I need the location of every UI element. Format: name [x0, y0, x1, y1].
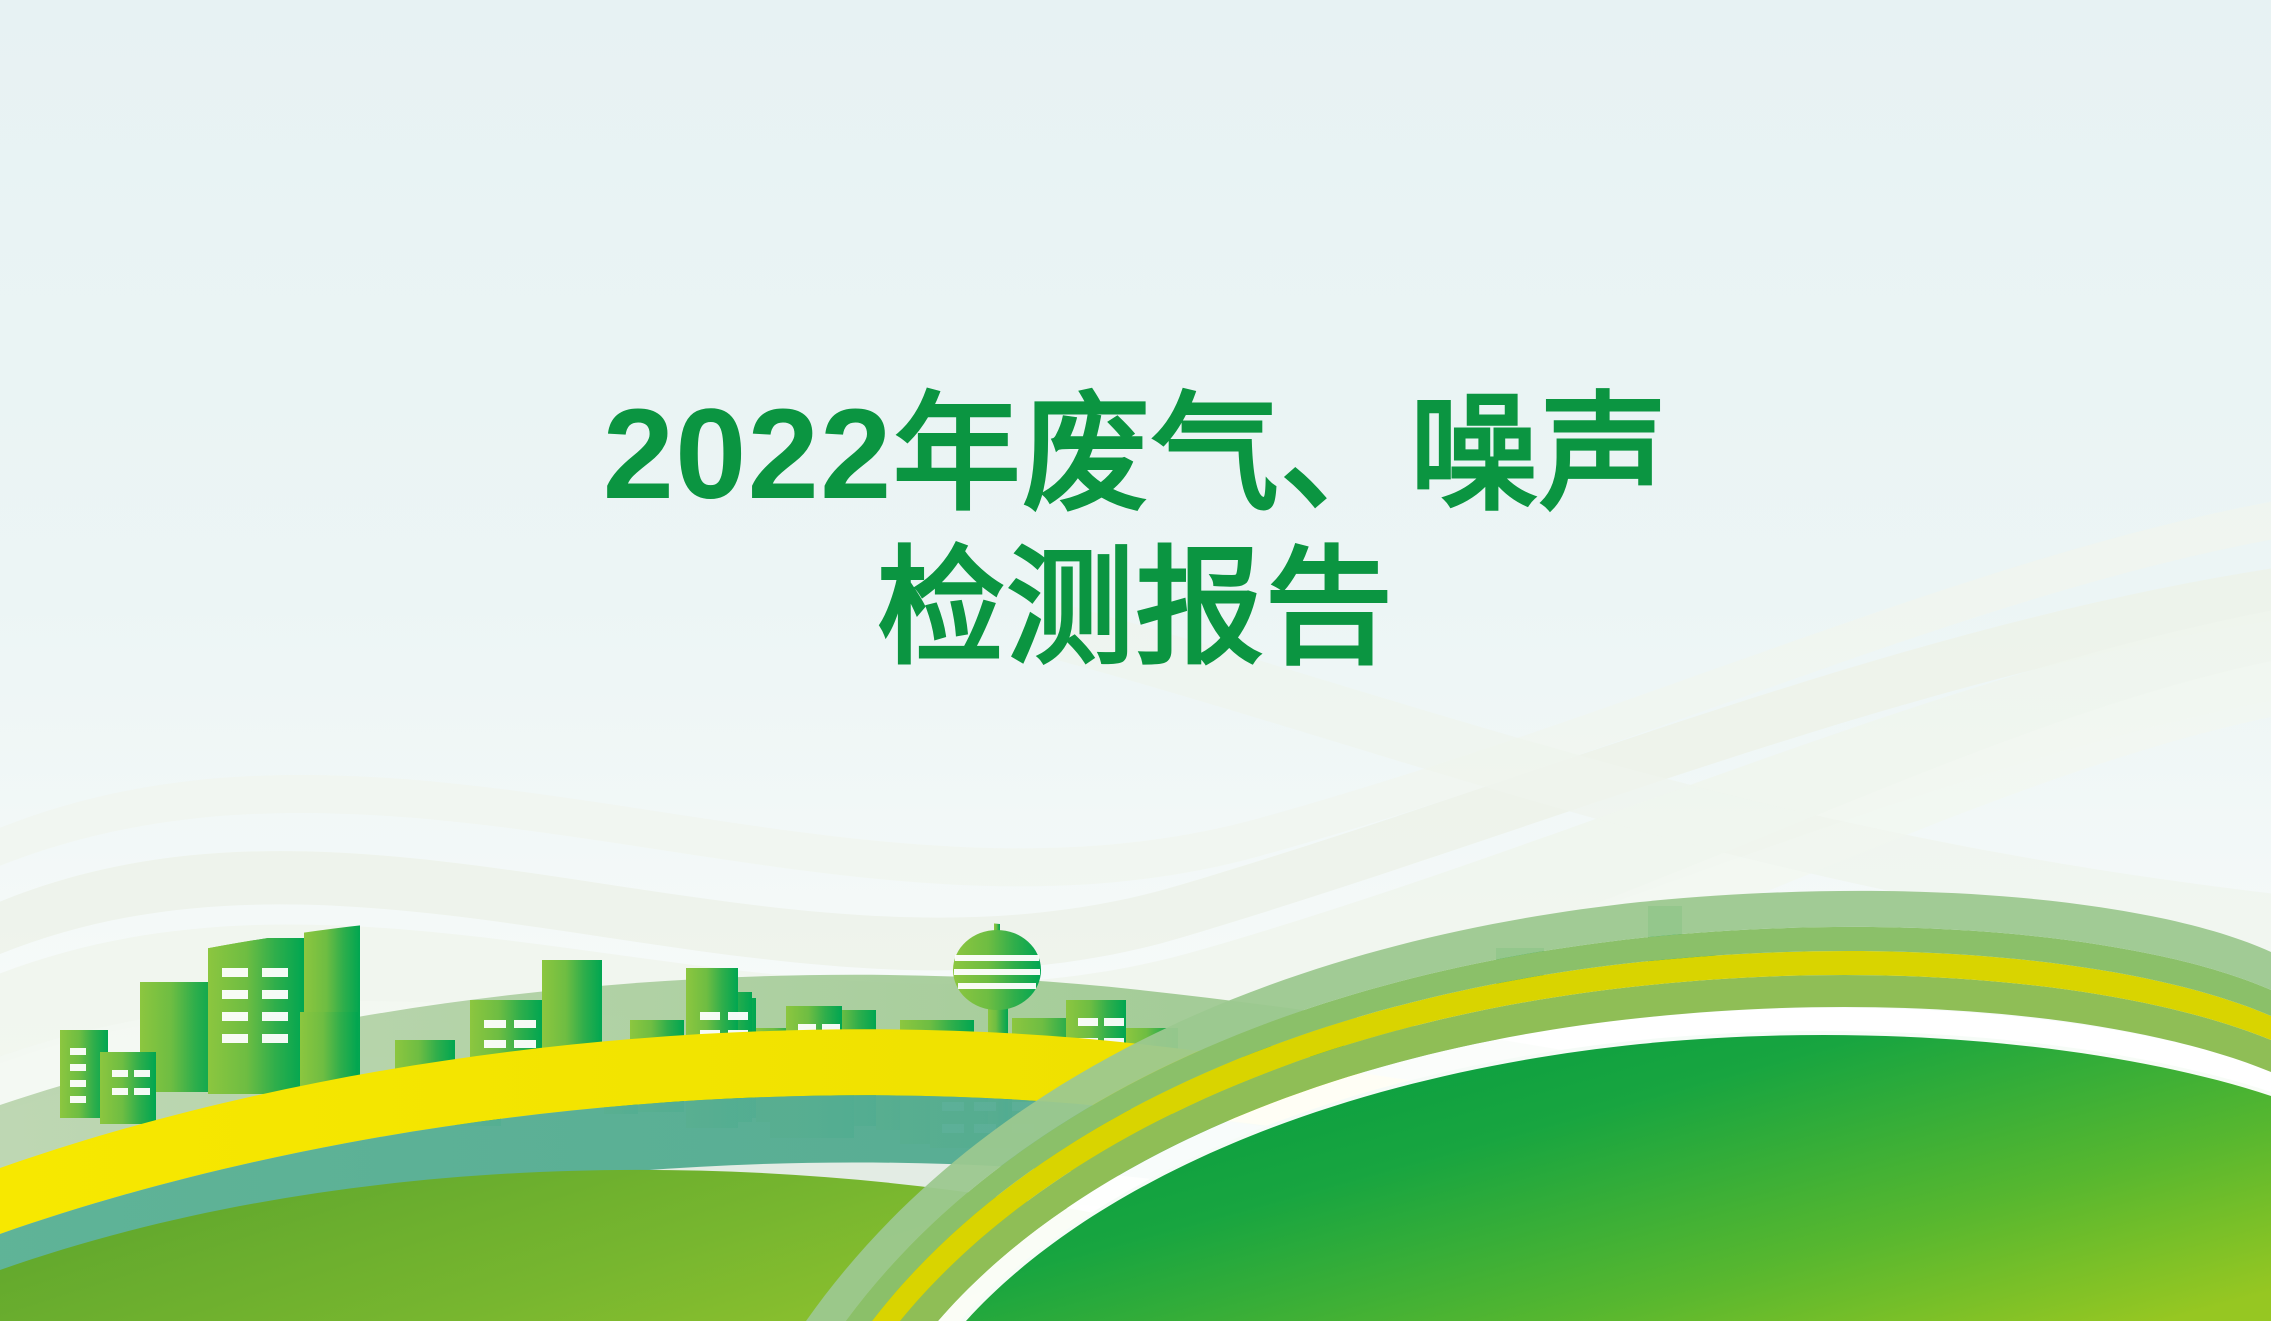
- tower-bands: [954, 955, 1040, 989]
- title-slide: 2022年废气、噪声 检测报告: [0, 0, 2271, 1321]
- background-artwork: [0, 0, 2271, 1321]
